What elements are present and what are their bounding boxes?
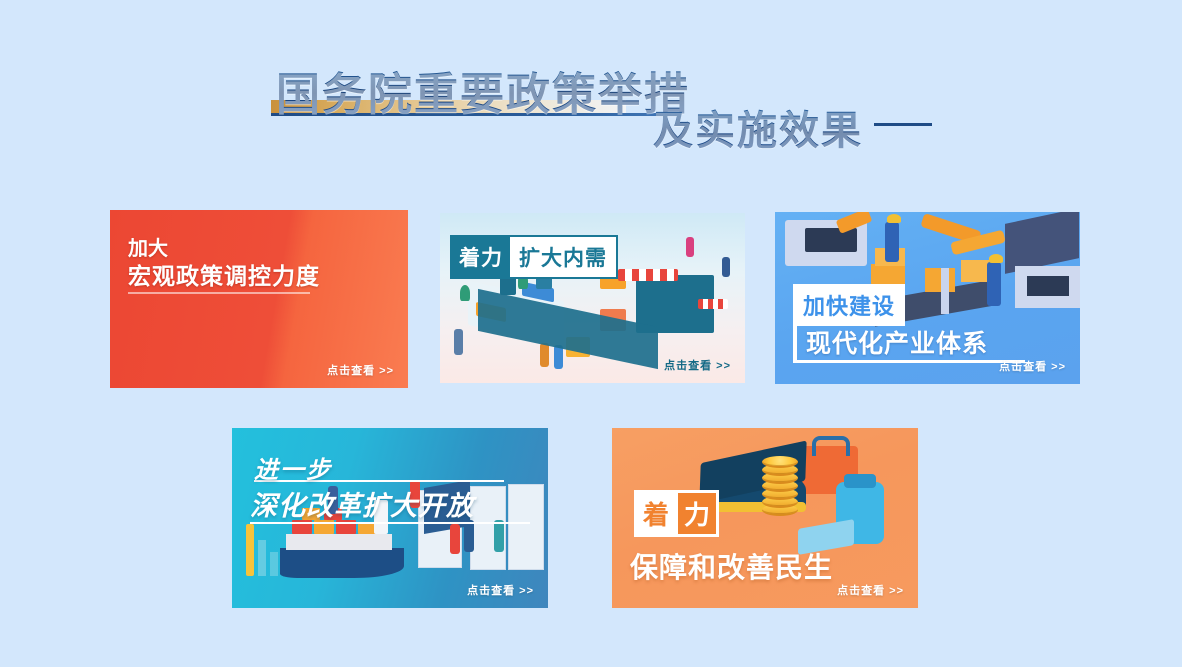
- card5-cta-link[interactable]: 点击查看 >>: [837, 582, 904, 598]
- card2-badge-main: 扩大内需: [510, 237, 616, 277]
- card5-badge-char-1: 着: [637, 493, 675, 534]
- ship-deck-shape: [286, 534, 392, 550]
- page-title-line-2: 及实施效果: [653, 98, 863, 156]
- title-trailing-dash: [874, 123, 932, 126]
- road-shape: [478, 289, 658, 369]
- cardboard-box-icon: [961, 260, 989, 282]
- card3-title-line-2: 现代化产业体系: [806, 330, 988, 358]
- person-icon: [686, 237, 694, 257]
- hard-hat-icon: [887, 214, 901, 223]
- card2-badge-emphasis: 着力: [452, 237, 510, 277]
- person-icon: [454, 329, 463, 355]
- bar-chart-bar: [270, 552, 278, 576]
- card5-title-line-2: 保障和改善民生: [630, 546, 833, 586]
- card1-title-rule: [128, 292, 310, 294]
- worker-icon: [987, 262, 1001, 306]
- card2-title-badge: 着力 扩大内需: [450, 235, 618, 279]
- machine-screen-shape: [1027, 276, 1069, 296]
- card1-cta-link[interactable]: 点击查看 >>: [327, 362, 394, 378]
- policy-card-expand-demand[interactable]: 着力 扩大内需 点击查看 >>: [440, 213, 745, 383]
- bar-chart-bar: [246, 524, 254, 576]
- card5-title-badge: 着 力: [634, 490, 719, 537]
- store-awning-shape: [618, 269, 678, 281]
- card3-title-line-1: 加快建设: [803, 294, 895, 319]
- hard-hat-icon: [989, 254, 1003, 263]
- machine-screen-shape: [805, 228, 857, 252]
- card4-title-line-1: 进一步: [254, 450, 332, 485]
- card4-title-line-2: 深化改革扩大开放: [250, 484, 474, 523]
- support-pillar-shape: [941, 268, 949, 314]
- card5-badge-char-2: 力: [675, 493, 716, 534]
- card1-title-line-2: 宏观政策调控力度: [128, 257, 320, 291]
- card4-cta-link[interactable]: 点击查看 >>: [467, 582, 534, 598]
- worker-icon: [885, 222, 899, 262]
- stall-awning-shape: [698, 299, 728, 309]
- policy-card-livelihood[interactable]: 着 力 保障和改善民生 点击查看 >>: [612, 428, 918, 608]
- person-icon: [450, 524, 460, 554]
- person-icon: [540, 343, 549, 367]
- policy-card-modern-industry[interactable]: 加快建设 现代化产业体系 点击查看 >>: [775, 212, 1080, 384]
- factory-roof-shape: [1005, 212, 1079, 274]
- bar-chart-bar: [258, 540, 266, 576]
- policy-card-macro-control[interactable]: 加大 宏观政策调控力度 点击查看 >>: [110, 210, 408, 388]
- cardboard-box-icon: [925, 268, 955, 292]
- cargo-ship-hull: [280, 548, 404, 578]
- office-partition: [508, 484, 544, 570]
- page-title-line-1: 国务院重要政策举措: [276, 58, 690, 122]
- person-icon: [494, 520, 504, 552]
- coin-stack-icon: [762, 452, 798, 516]
- card2-cta-link[interactable]: 点击查看 >>: [664, 357, 731, 373]
- card3-title-box: 加快建设: [793, 284, 905, 326]
- person-icon: [722, 257, 730, 277]
- person-icon: [464, 520, 474, 552]
- medicine-bottle-cap: [844, 474, 876, 488]
- briefcase-handle: [812, 436, 850, 456]
- card3-title-underline: [793, 360, 1025, 363]
- page-header: 国务院重要政策举措 及实施效果: [0, 0, 1182, 190]
- policy-card-reform-opening[interactable]: 进一步 深化改革扩大开放 点击查看 >>: [232, 428, 548, 608]
- card3-cta-link[interactable]: 点击查看 >>: [999, 358, 1066, 374]
- tree-icon: [460, 285, 470, 301]
- card3-title-line-2-wrap: 现代化产业体系: [793, 324, 988, 360]
